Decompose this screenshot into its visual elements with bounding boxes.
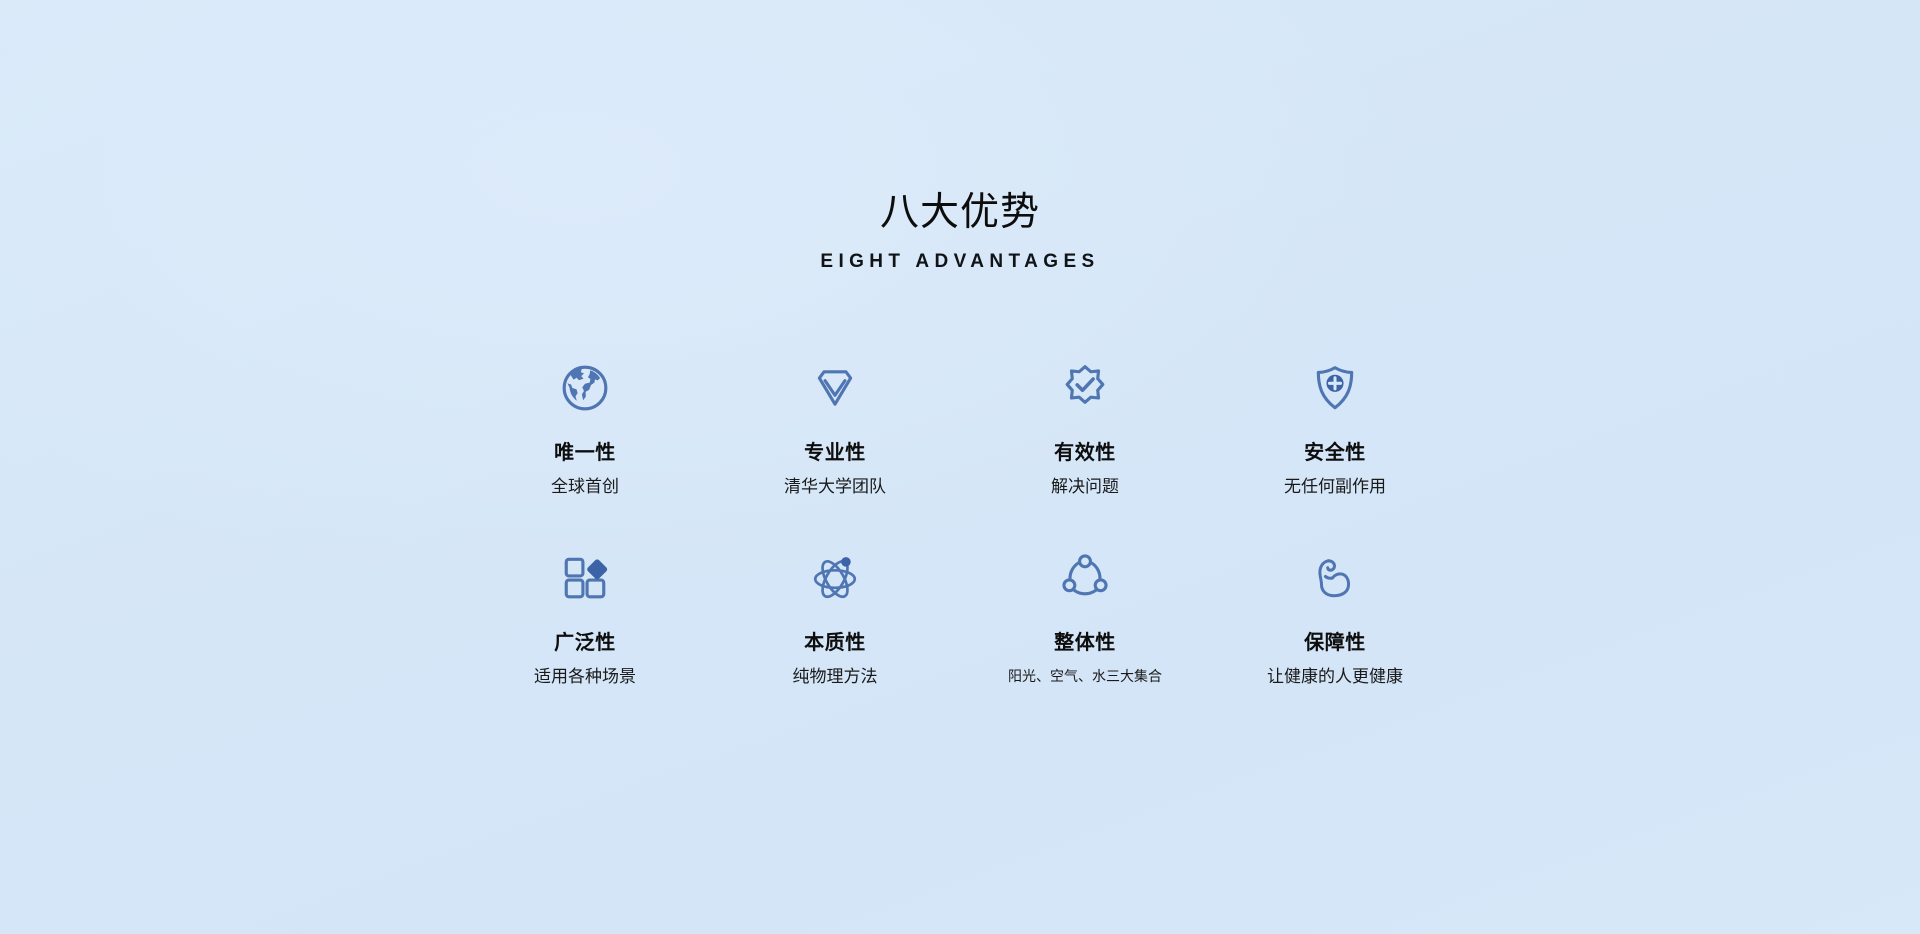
atom-icon [807,550,863,606]
advantage-item: 安全性 无任何副作用 [1210,360,1460,550]
page-subtitle: EIGHT ADVANTAGES [0,250,1920,274]
advantage-item: 唯一性 全球首创 [460,360,710,550]
advantage-label: 广泛性 [554,630,616,656]
advantage-caption: 解决问题 [1051,475,1119,498]
advantage-item: 整体性 阳光、空气、水三大集合 [960,550,1210,740]
shield-cross-icon [1307,360,1363,416]
advantage-label: 有效性 [1054,440,1116,466]
advantage-caption: 清华大学团队 [784,475,886,498]
advantage-item: 保障性 让健康的人更健康 [1210,550,1460,740]
section-heading: 八大优势 EIGHT ADVANTAGES [0,190,1920,274]
advantage-label: 整体性 [1054,630,1116,656]
badge-check-icon [1057,360,1113,416]
advantage-label: 本质性 [804,630,866,656]
advantage-caption: 适用各种场景 [534,665,636,688]
advantage-label: 安全性 [1304,440,1366,466]
advantage-caption: 全球首创 [551,475,619,498]
globe-icon [557,360,613,416]
eight-advantages-section: 八大优势 EIGHT ADVANTAGES 唯一性 全球首创 [0,0,1920,934]
advantages-grid: 唯一性 全球首创 专业性 清华大学团队 有效性 解决问题 [460,360,1460,740]
share-nodes-icon [1057,550,1113,606]
grid-squares-icon [557,550,613,606]
advantage-item: 专业性 清华大学团队 [710,360,960,550]
advantage-label: 保障性 [1304,630,1366,656]
advantage-item: 有效性 解决问题 [960,360,1210,550]
advantage-item: 本质性 纯物理方法 [710,550,960,740]
advantage-label: 唯一性 [554,440,616,466]
advantage-label: 专业性 [804,440,866,466]
advantage-caption: 无任何副作用 [1284,475,1386,498]
diamond-gem-icon [807,360,863,416]
advantage-caption: 让健康的人更健康 [1267,665,1403,688]
advantage-item: 广泛性 适用各种场景 [460,550,710,740]
advantage-caption: 阳光、空气、水三大集合 [1008,665,1162,688]
advantage-caption: 纯物理方法 [793,665,878,688]
muscle-arm-icon [1307,550,1363,606]
page-title: 八大优势 [0,190,1920,236]
